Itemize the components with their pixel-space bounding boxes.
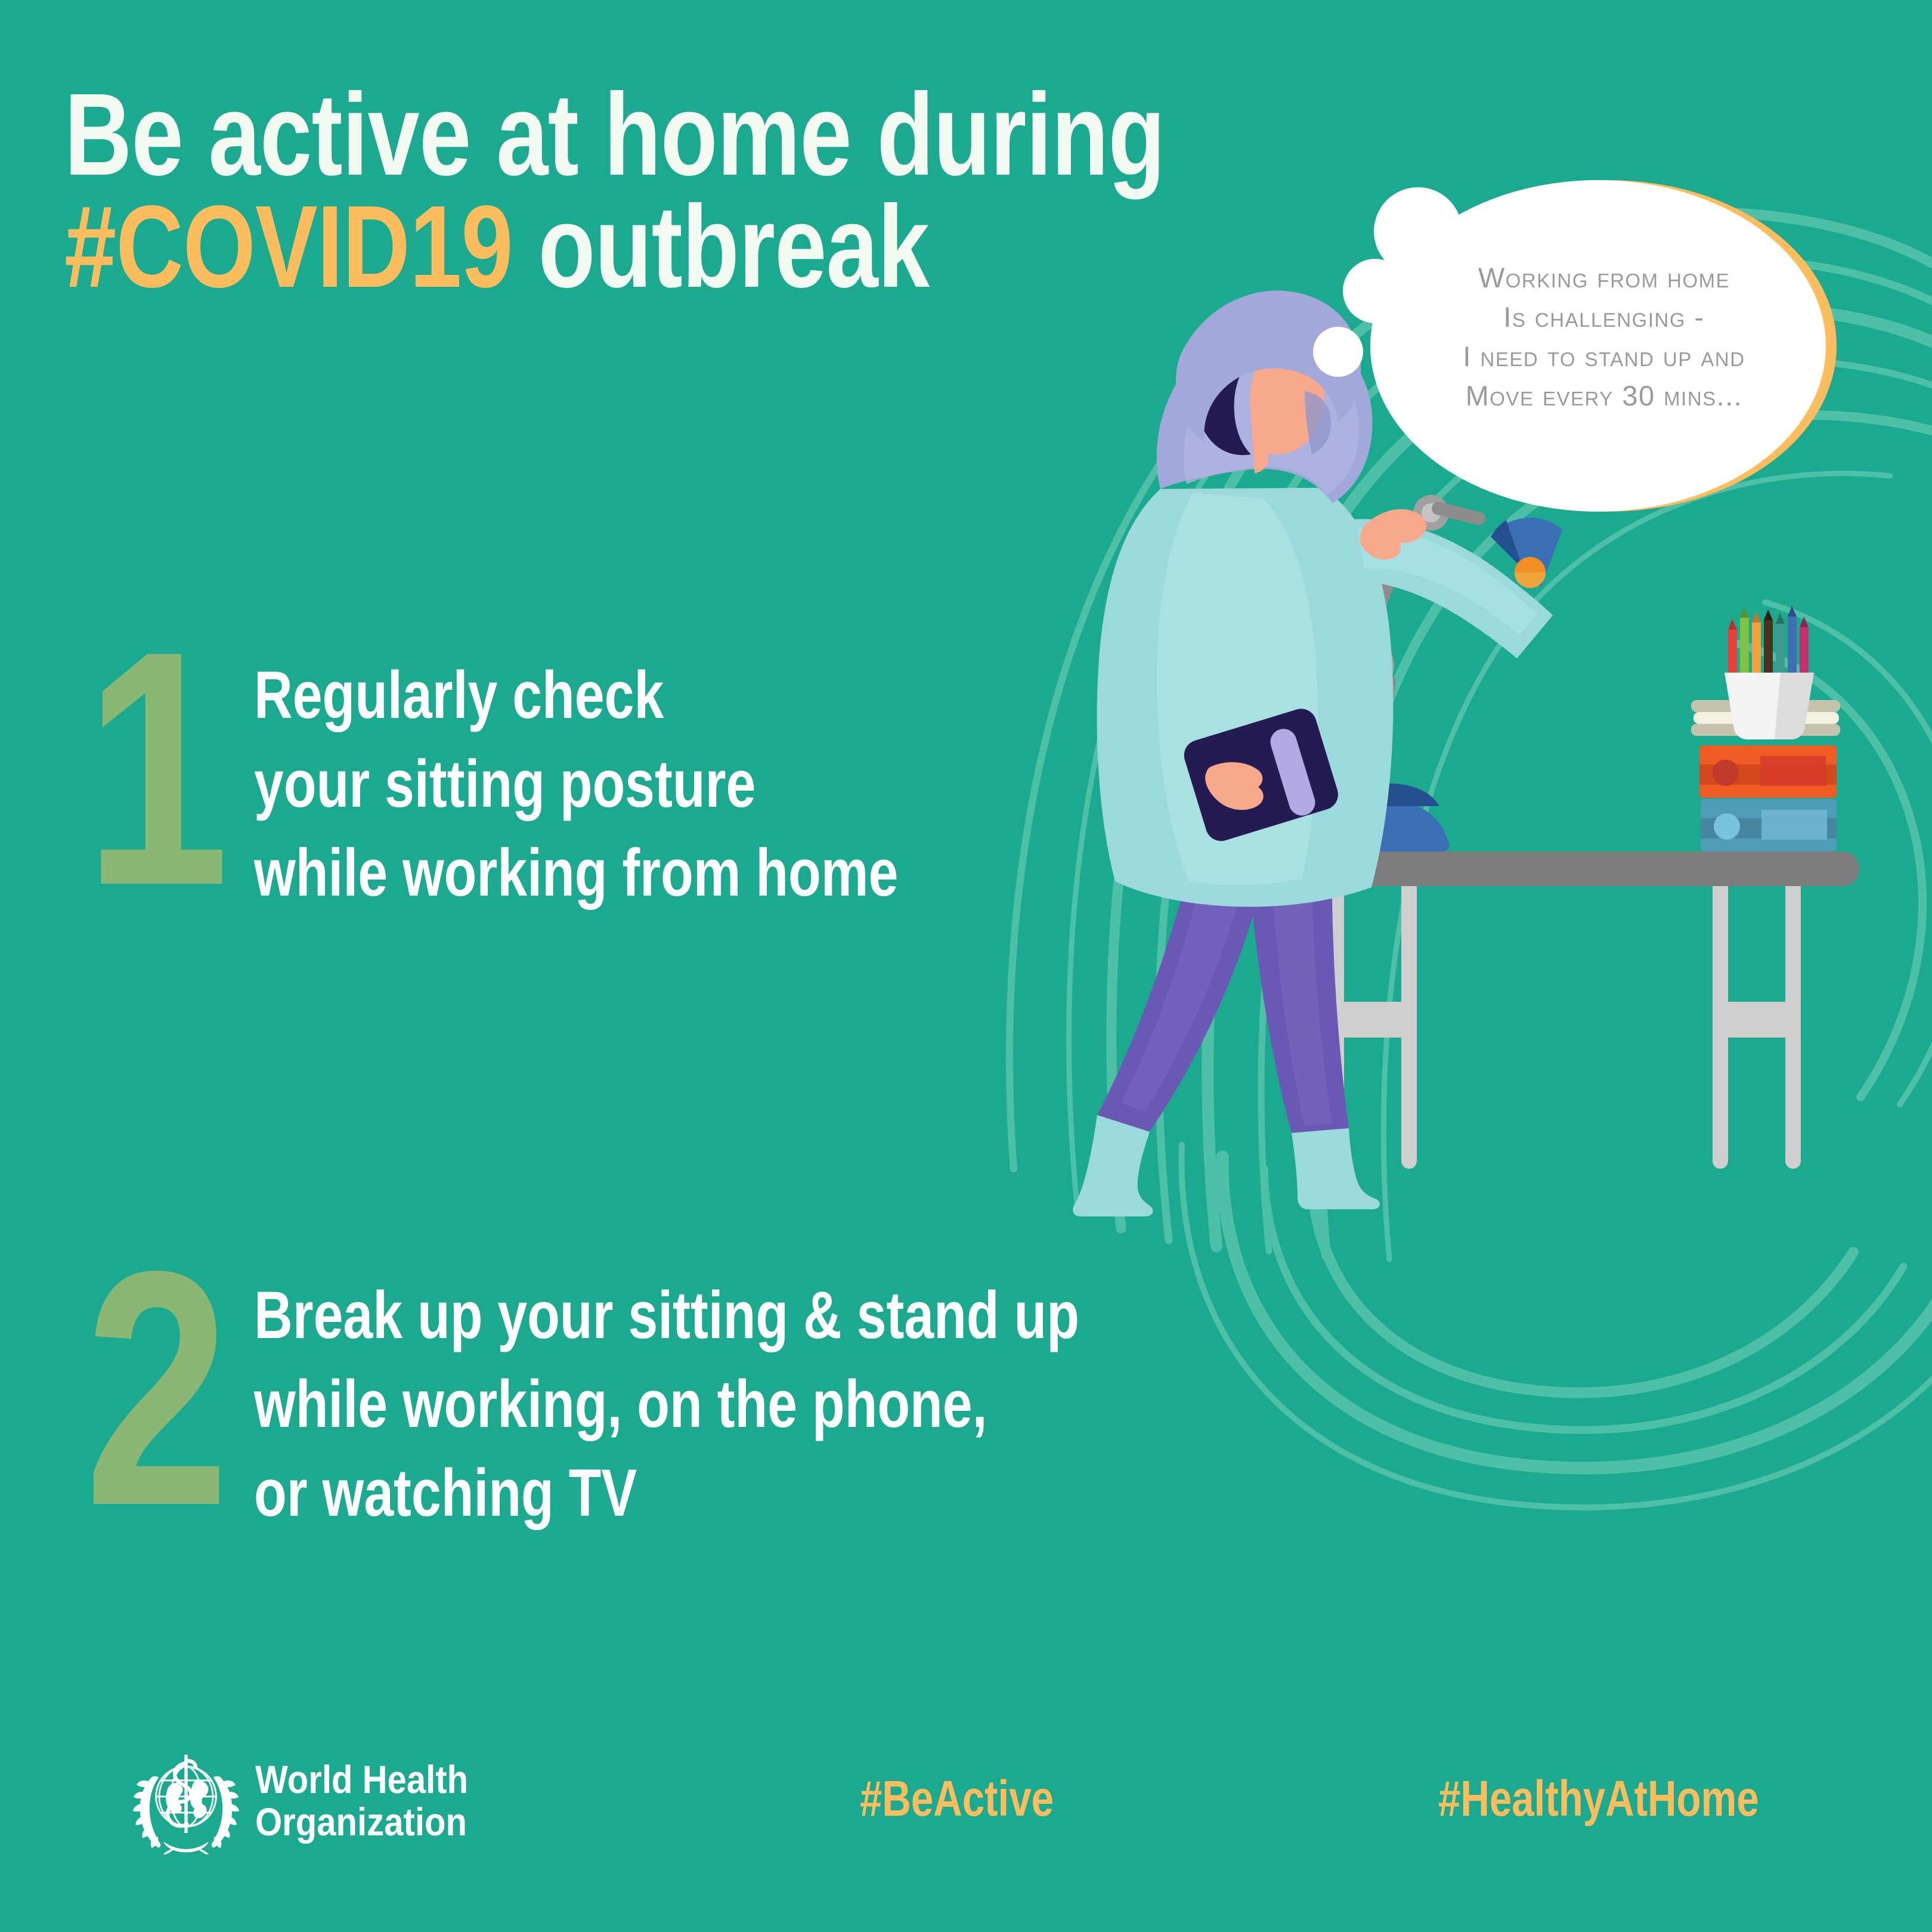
tip-text-2: Break up your sitting & stand up while w… (254, 1258, 1286, 1538)
headline-line-2: #COVID19 outbreak (64, 191, 1066, 303)
tip-1-line-1: Regularly check (254, 651, 898, 740)
who-wordmark-line-1: World Health (255, 1758, 468, 1801)
who-emblem-icon (132, 1747, 240, 1854)
hashtag-be-active[interactable]: #BeActive (860, 1770, 1054, 1828)
tip-2-line-3: or watching TV (254, 1449, 1079, 1538)
tip-2-line-2: while working, on the phone, (254, 1360, 1079, 1449)
pencil-cup (1724, 606, 1814, 739)
bubble-line-2: is challenging - (1503, 298, 1704, 337)
tip-item-1: 1 Regularly check your sitting posture w… (57, 638, 1059, 918)
who-wordmark: World Health Organization (255, 1758, 468, 1844)
tunic (1097, 488, 1553, 907)
page-title: Be active at home during #COVID19 outbre… (64, 79, 1317, 303)
socks (1073, 1115, 1380, 1216)
tip-number-2: 2 (79, 1258, 232, 1519)
headline-outbreak-word: outbreak (513, 181, 930, 312)
bubble-line-3: I need to stand up and (1463, 337, 1745, 376)
tip-1-line-3: while working from home (254, 829, 898, 918)
headline-line-1: Be active at home during (64, 79, 1066, 191)
footer: World Health Organization #BeActive #Hea… (0, 1741, 1932, 1860)
covid-hashtag: #COVID19 (64, 181, 513, 312)
tip-item-2: 2 Break up your sitting & stand up while… (57, 1258, 1286, 1538)
poster-canvas: Be active at home during #COVID19 outbre… (0, 0, 1932, 1932)
bubble-line-4: move every 30 mins... (1466, 376, 1743, 416)
thought-bubble: Working from home is challenging - I nee… (1366, 173, 1843, 519)
hashtag-healthy-at-home[interactable]: #HealthyAtHome (1438, 1770, 1759, 1828)
tip-text-1: Regularly check your sitting posture whi… (254, 638, 1059, 918)
tip-number-1: 1 (79, 638, 232, 899)
who-logo: World Health Organization (132, 1747, 497, 1854)
who-wordmark-line-2: Organization (255, 1801, 468, 1843)
bubble-line-1: Working from home (1478, 258, 1730, 298)
tip-2-line-1: Break up your sitting & stand up (254, 1271, 1079, 1360)
tip-1-line-2: your sitting posture (254, 740, 898, 829)
bubble-text-block: Working from home is challenging - I nee… (1366, 173, 1843, 519)
